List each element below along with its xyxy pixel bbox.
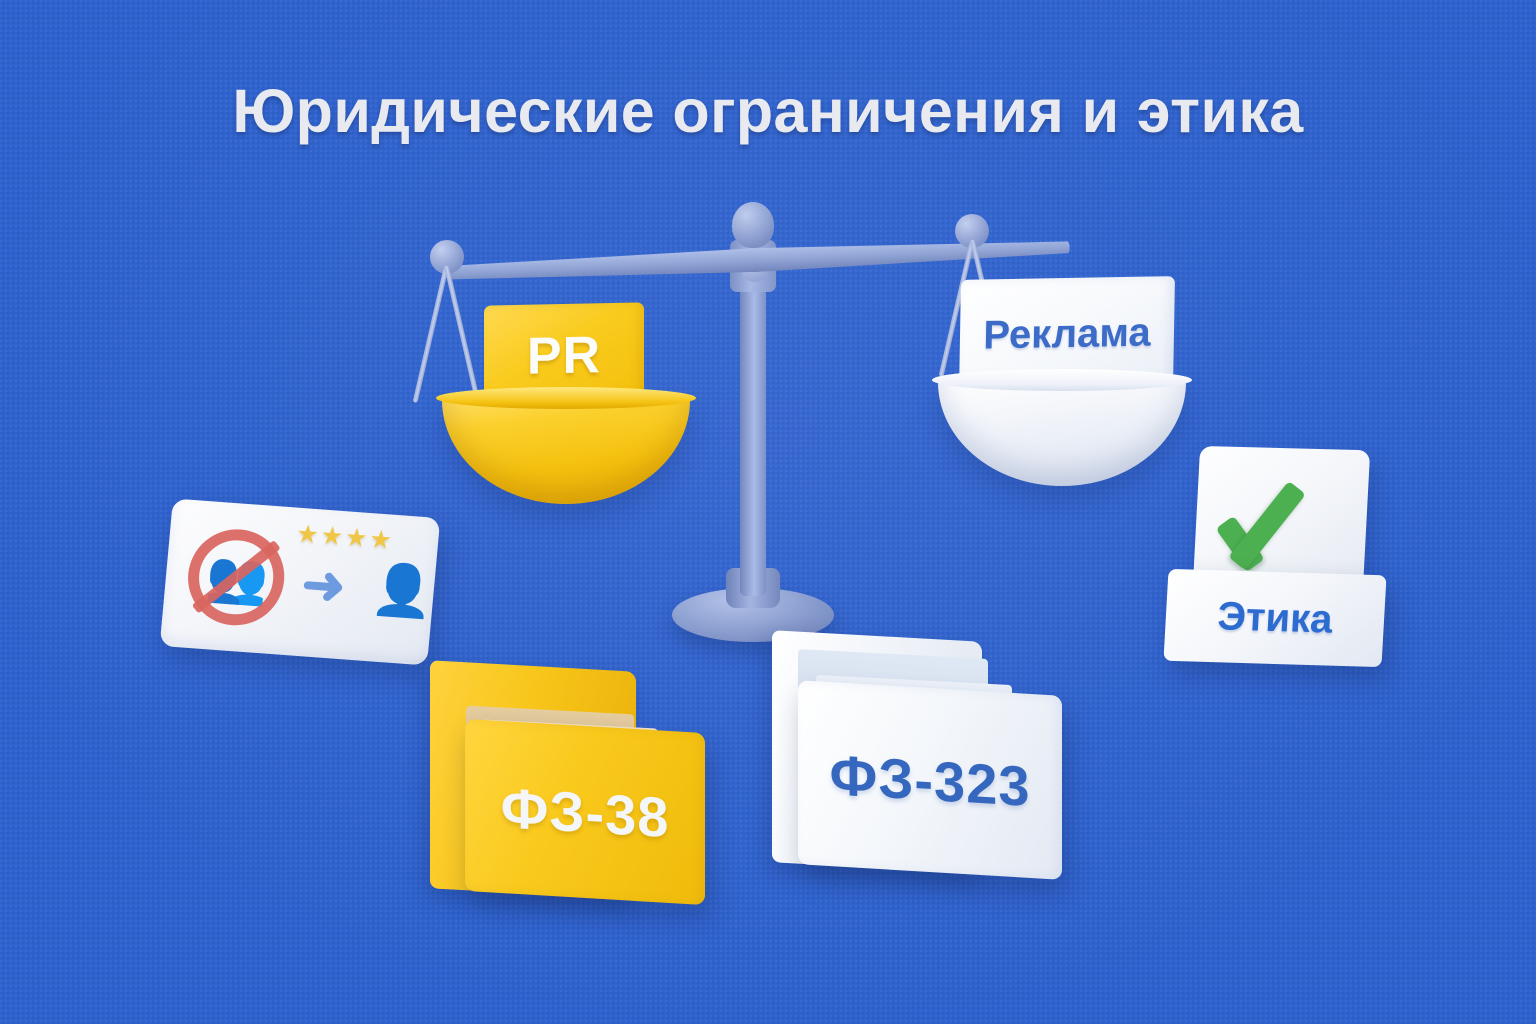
single-person-icon: 👤: [369, 563, 422, 618]
folder-front-label: ФЗ-323: [798, 680, 1062, 880]
ethics-plinth: Этика: [1163, 569, 1386, 667]
ethics-block: Этика: [1166, 448, 1396, 668]
folder-fz-323: ФЗ-323: [772, 634, 1082, 894]
green-checkmark-icon: [1217, 464, 1343, 577]
star-icon: ★: [344, 525, 369, 552]
prohibition-circle-icon: 👥: [184, 526, 288, 629]
folder-fz-38: ФЗ-38: [430, 658, 720, 908]
star-icon: ★: [295, 522, 320, 549]
scales-top-knob: [732, 202, 774, 248]
page-title: Юридические ограничения и этика: [0, 76, 1536, 146]
star-rating: ★ ★ ★ ★: [295, 522, 393, 554]
no-testimonials-card: 👥 ★ ★ ★ ★ ➜ 👤: [160, 498, 441, 665]
balance-scales: PR Реклама: [660, 196, 890, 626]
pan-rim-left: [436, 387, 696, 409]
ethics-label: Этика: [1216, 594, 1333, 642]
folder-front-label: ФЗ-38: [465, 719, 705, 905]
pan-rim-right: [932, 369, 1192, 391]
arrow-right-icon: ➜: [300, 564, 366, 612]
star-icon: ★: [320, 523, 345, 550]
star-icon: ★: [368, 527, 393, 554]
